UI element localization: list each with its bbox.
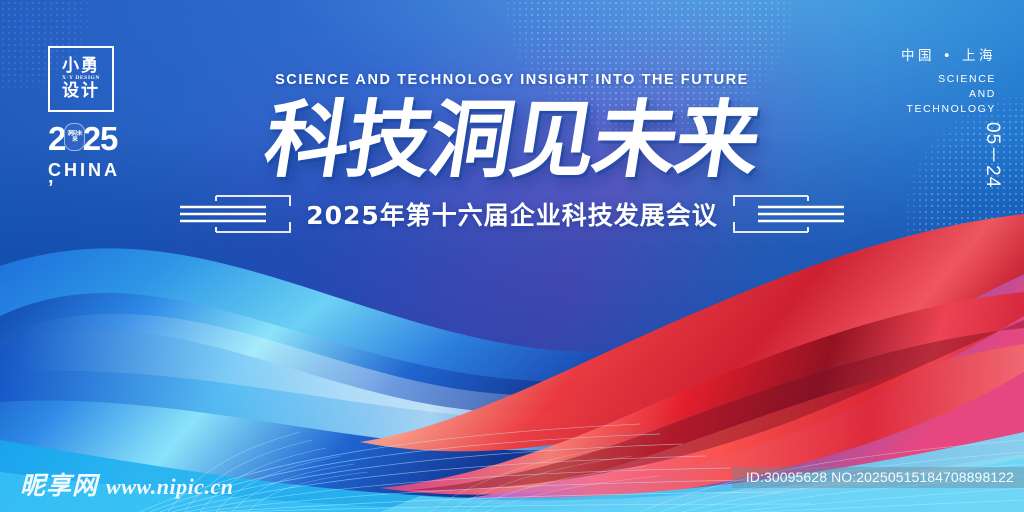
headline-block: SCIENCE AND TECHNOLOGY INSIGHT INTO THE … — [0, 0, 1024, 234]
watermark-url: www.nipic.cn — [106, 474, 233, 500]
event-meta-en: SCIENCE AND TECHNOLOGY — [901, 72, 996, 117]
event-meta: 中国 • 上海 SCIENCE AND TECHNOLOGY — [901, 44, 996, 117]
meta-en-line3: TECHNOLOGY — [901, 102, 996, 117]
meta-en-line2: AND — [901, 87, 996, 102]
subtitle-text: 2025年第十六届企业科技发展会议 — [306, 196, 718, 232]
subtitle-bar: 2025年第十六届企业科技发展会议 — [0, 194, 1024, 234]
poster-canvas: 小勇 X·Y DESIGN 设计 2025 洞见未来 CHINA ’ SCIEN… — [0, 0, 1024, 512]
asset-id-bar: ID:30095628 NO:20250515184708898122 — [732, 467, 1024, 488]
site-watermark: 昵享网 www.nipic.cn — [20, 466, 233, 502]
ornament-right-icon — [732, 194, 844, 234]
event-date: 05－24 — [979, 122, 1006, 188]
silk-ribbon-waves — [0, 196, 1024, 512]
eyebrow-tagline: SCIENCE AND TECHNOLOGY INSIGHT INTO THE … — [0, 72, 1024, 88]
ornament-left-icon — [180, 194, 292, 234]
event-location: 中国 • 上海 — [901, 44, 996, 64]
page-title: 科技洞见未来 — [0, 96, 1024, 184]
watermark-brand: 昵享网 — [20, 466, 98, 502]
meta-en-line1: SCIENCE — [901, 72, 996, 87]
